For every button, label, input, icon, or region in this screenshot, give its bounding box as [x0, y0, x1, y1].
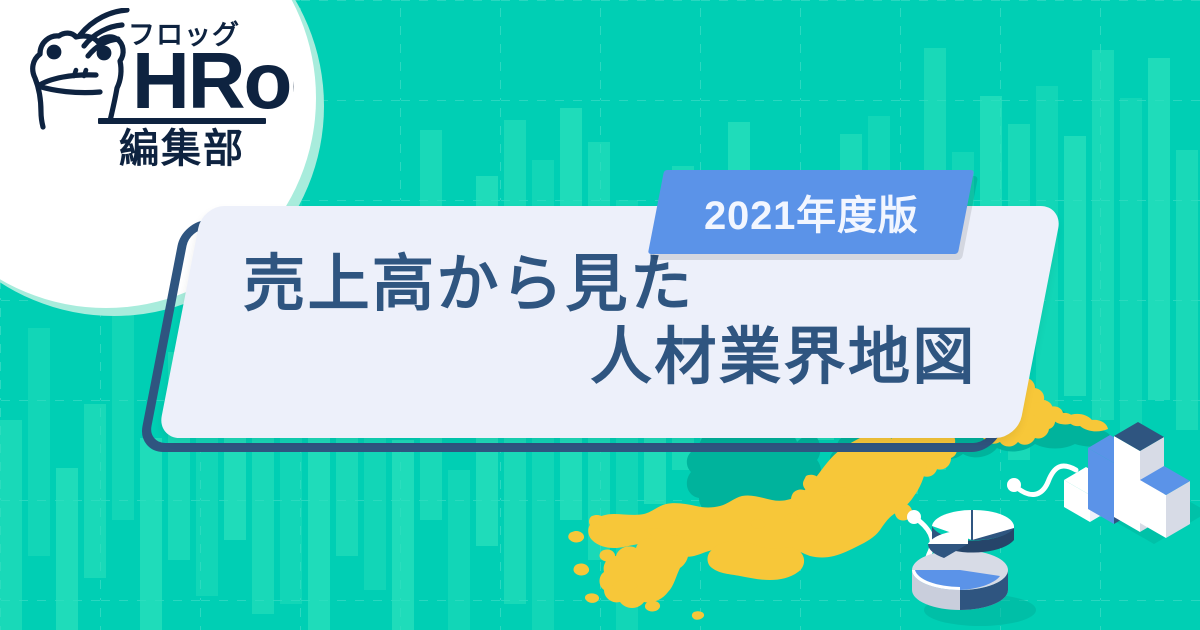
- year-badge: 2021年度版: [648, 170, 974, 254]
- year-badge-label: 2021年度版: [704, 183, 919, 241]
- background-bar: [56, 468, 78, 630]
- background-bar: [140, 438, 162, 630]
- background-bar: [112, 286, 134, 520]
- background-bar: [0, 420, 22, 630]
- bar-chart-3d: [1058, 410, 1200, 545]
- frog-icon: [33, 10, 127, 127]
- background-bar: [1148, 58, 1170, 400]
- page-title-line2: 人材業界地図: [219, 325, 987, 392]
- background-bar: [1064, 136, 1086, 396]
- logo-sub: 編集部: [119, 127, 245, 168]
- hero-banner: フロッグ HRog 編集部: [0, 0, 1200, 630]
- hrog-logo[interactable]: フロッグ HRog 編集部: [14, 8, 294, 168]
- frog-eye-left: [47, 45, 62, 60]
- frog-eye-right: [97, 46, 112, 61]
- background-bar: [448, 470, 470, 630]
- background-bar: [28, 328, 50, 556]
- page-title-line1: 売上高から見た: [233, 252, 1001, 319]
- background-bar: [392, 440, 414, 630]
- logo-wordmark: HRog: [132, 36, 294, 125]
- background-bar: [84, 404, 106, 578]
- pie-chart-3d: [898, 498, 1038, 628]
- background-bar: [1176, 150, 1198, 430]
- logo-divider: [98, 118, 266, 124]
